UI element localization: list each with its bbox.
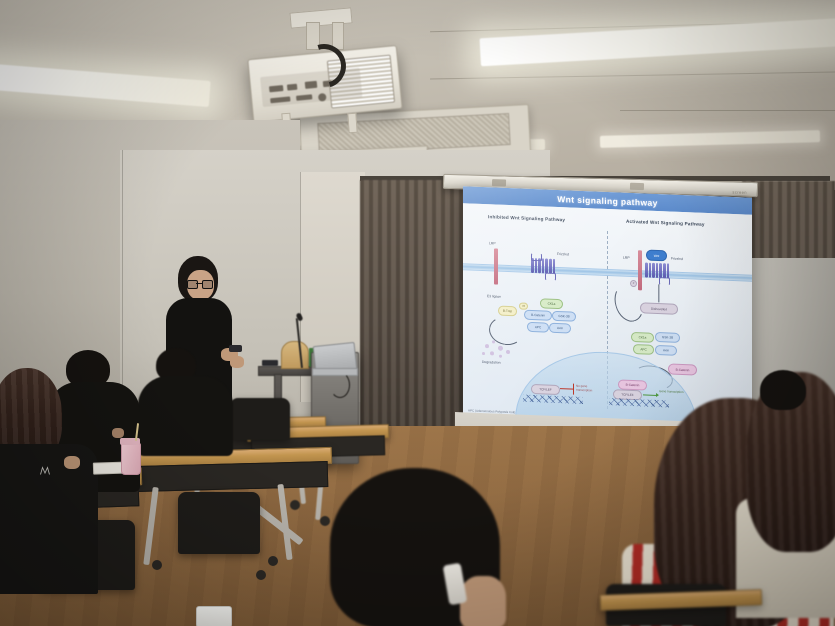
frizzled-loop-left	[545, 272, 556, 280]
projection-screen[interactable]: Wnt signaling pathway Inhibited Wnt Sign…	[463, 186, 752, 426]
student-torso	[138, 376, 233, 456]
dishevelled-arrow	[659, 284, 660, 302]
lecture-room-photo: screen Wnt signaling pathway Inhibited W…	[0, 0, 835, 626]
ck1a-node-left: CK1a	[540, 298, 563, 309]
small-device	[262, 360, 278, 366]
frizzled-label-left: Frizzled	[557, 252, 569, 256]
slide-body: Inhibited Wnt Signaling Pathway Activate…	[463, 203, 752, 426]
gsk3b-node-right: GSK-3B	[655, 332, 680, 343]
wooden-box	[281, 341, 309, 369]
student-hand	[64, 456, 80, 469]
chair[interactable]	[178, 492, 260, 554]
frizzled-label-right: Frizzled	[671, 257, 683, 261]
eyeglasses-icon	[187, 280, 211, 287]
presenter-hand	[230, 356, 244, 368]
lrp-activation-arrow	[610, 281, 647, 325]
dishevelled-node: Dishevelled	[640, 302, 678, 315]
degradation-label: Degradation	[482, 360, 500, 365]
pink-tumbler[interactable]	[121, 443, 141, 475]
lrp-receptor-right	[638, 250, 642, 290]
ub-marker: Ub	[519, 302, 528, 309]
desk-caster	[320, 516, 330, 526]
axin-node-right: Axin	[655, 345, 677, 356]
jacket-logo-icon	[39, 466, 51, 476]
desk-caster	[268, 556, 278, 566]
right-panel-heading: Activated Wnt Signaling Pathway	[626, 219, 705, 227]
apc-node-right: APC	[633, 344, 654, 355]
apc-node-left: APC	[527, 322, 549, 333]
window-curtain	[360, 180, 470, 430]
screen-brand-mark: screen	[732, 189, 747, 194]
student-hand	[460, 576, 506, 626]
lrp-receptor-left	[494, 248, 498, 284]
frizzled-receptor-right	[645, 263, 669, 279]
frizzled-loop-left	[531, 253, 542, 261]
lrp-label-right: LRP	[623, 256, 630, 260]
beta-catenin-complex-node: B-Catenin	[524, 310, 552, 321]
cable	[330, 372, 350, 398]
gsk3b-node-left: GSK-3B	[552, 311, 576, 322]
left-panel-heading: Inhibited Wnt Signaling Pathway	[488, 214, 565, 222]
ck1a-node-right: CK1a	[631, 332, 654, 343]
student-hair	[760, 370, 806, 410]
paper-cup[interactable]	[196, 606, 232, 626]
no-transcription-label: No gene transcription	[576, 385, 602, 393]
student-hand	[112, 428, 124, 438]
lrp-label-left: LRP	[489, 241, 496, 245]
slide-title: Wnt signaling pathway	[557, 193, 658, 207]
slide-content: Wnt signaling pathway Inhibited Wnt Sign…	[463, 186, 752, 426]
desk-caster	[290, 500, 300, 510]
desk-caster	[256, 570, 266, 580]
presentation-remote[interactable]	[229, 345, 242, 352]
e3-ligase-node: B-Trcp	[498, 306, 517, 317]
ceiling-seam	[620, 110, 835, 111]
frizzled-loop-right	[659, 277, 670, 285]
beta-catenin-free-node: B-Catenin	[668, 363, 697, 375]
projector-ceiling-bracket	[347, 113, 357, 134]
tcf-lef-node-left: TCF/LEF	[531, 384, 560, 395]
e3-ligase-label: E3 ligase	[487, 294, 501, 299]
inhibition-bar	[573, 384, 574, 395]
axin-node-left: Axin	[549, 323, 571, 334]
chair[interactable]	[230, 398, 290, 440]
wnt-ligand-node[interactable]: Wnt	[646, 250, 667, 262]
desk-caster	[152, 560, 162, 570]
